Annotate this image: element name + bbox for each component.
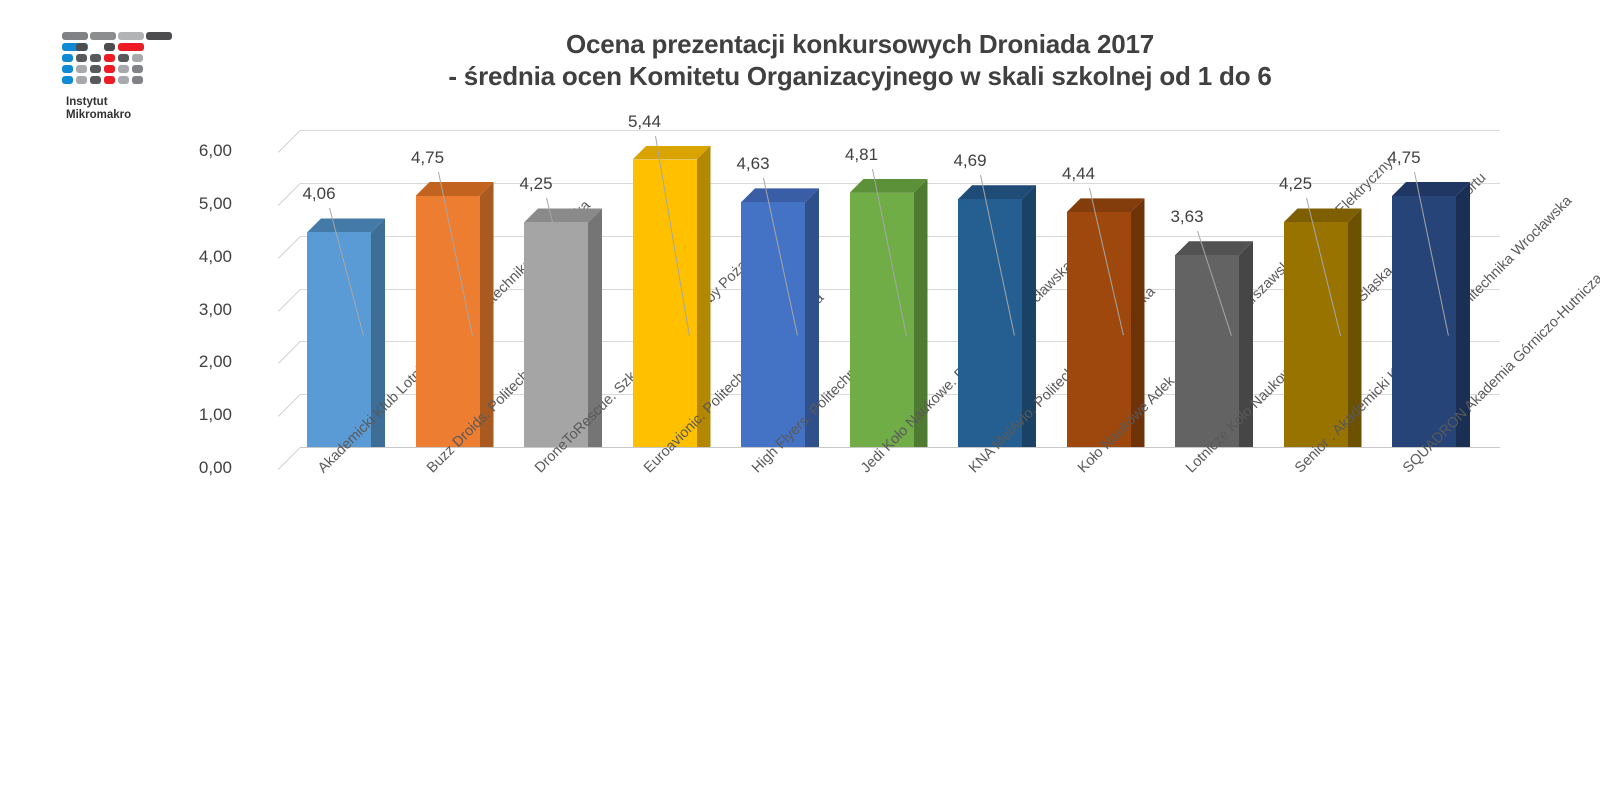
data-value-label: 4,69	[925, 151, 1015, 171]
bar-front-face	[307, 232, 371, 447]
gridline-depth-edge	[278, 236, 301, 259]
data-value-label: 4,44	[1034, 164, 1124, 184]
gridline	[300, 130, 1500, 131]
data-value-label: 5,44	[600, 112, 690, 132]
y-axis-tick-label: 1,00	[152, 405, 232, 425]
y-axis-tick-label: 5,00	[152, 194, 232, 214]
gridline-depth-edge	[278, 447, 301, 470]
y-axis-tick-label: 2,00	[152, 352, 232, 372]
y-axis-tick-label: 3,00	[152, 300, 232, 320]
gridline-depth-edge	[278, 289, 301, 312]
data-value-label: 4,81	[817, 145, 907, 165]
y-axis-tick-label: 0,00	[152, 458, 232, 478]
bar-front-face	[524, 222, 588, 447]
chart-canvas: Instytut Mikromakro Ocena prezentacji ko…	[0, 0, 1600, 812]
y-axis-tick-label: 4,00	[152, 247, 232, 267]
gridline-depth-edge	[278, 130, 301, 153]
data-value-label: 4,75	[1359, 148, 1449, 168]
data-value-label: 4,75	[383, 148, 473, 168]
data-value-label: 3,63	[1142, 207, 1232, 227]
bar-front-face	[633, 160, 697, 447]
bar-front-face	[1284, 222, 1348, 447]
gridline-depth-edge	[278, 341, 301, 364]
data-value-label: 4,25	[1251, 174, 1341, 194]
gridline-depth-edge	[278, 394, 301, 417]
data-value-label: 4,63	[708, 154, 798, 174]
plot-area: 0,001,002,003,004,005,006,004,06Akademic…	[0, 0, 1600, 812]
data-value-label: 4,06	[274, 184, 364, 204]
y-axis-tick-label: 6,00	[152, 141, 232, 161]
data-value-label: 4,25	[491, 174, 581, 194]
